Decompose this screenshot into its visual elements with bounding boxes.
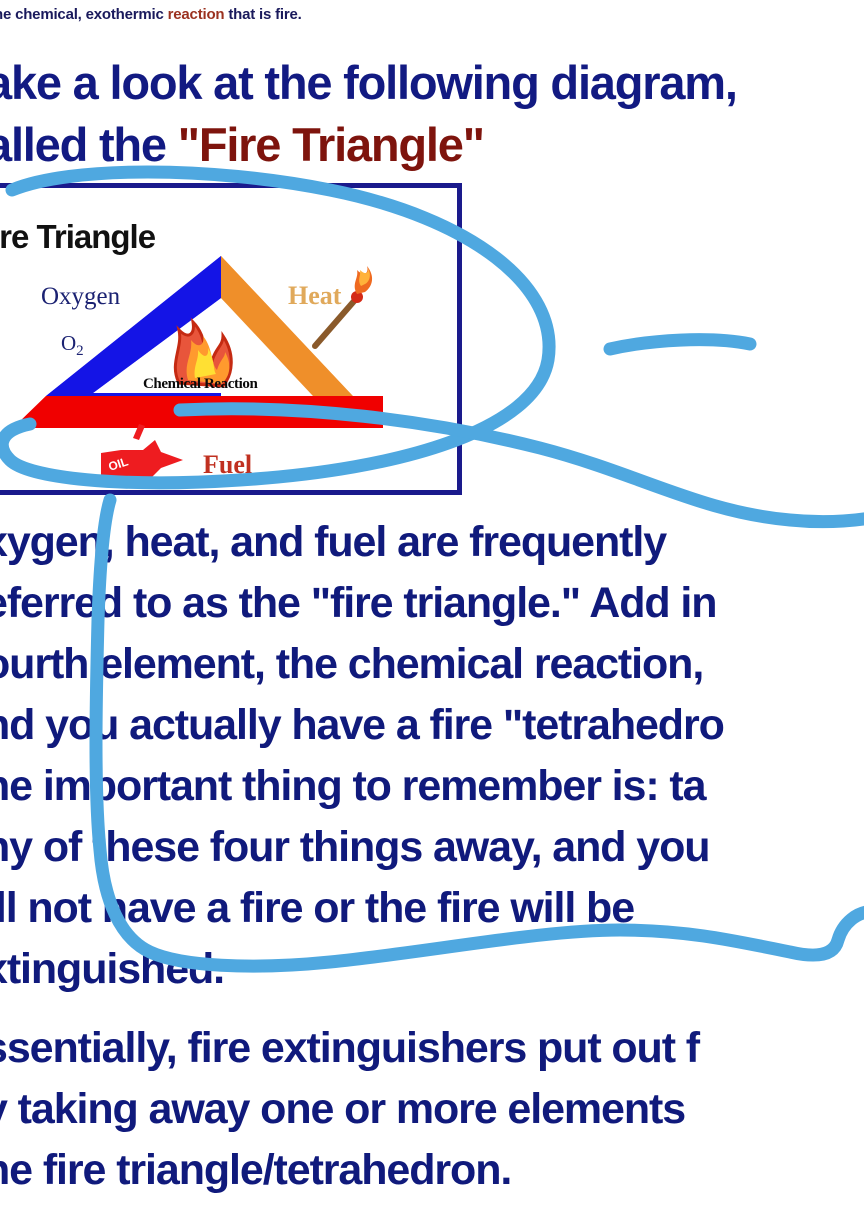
paragraph-one: xygen, heat, and fuel are frequently efe… bbox=[0, 512, 864, 1000]
page-heading: ake a look at the following diagram, all… bbox=[0, 52, 864, 176]
heading-line-1: ake a look at the following diagram, bbox=[0, 56, 737, 109]
label-oxygen-formula: O2 bbox=[61, 331, 84, 360]
o2-subscript: 2 bbox=[76, 343, 84, 359]
heading-line-2: alled the "Fire Triangle" bbox=[0, 114, 864, 176]
p2-line-0: ssentially, fire extinguishers put out f bbox=[0, 1018, 864, 1079]
top-text-after: that is fire. bbox=[224, 6, 301, 23]
p1-line-6: ill not have a fire or the fire will be bbox=[0, 878, 864, 939]
p1-line-2: ourth element, the chemical reaction, bbox=[0, 634, 864, 695]
p1-line-5: ny of these four things away, and you bbox=[0, 817, 864, 878]
p1-line-7: xtinguished. bbox=[0, 939, 864, 1000]
p2-line-1: y taking away one or more elements bbox=[0, 1079, 864, 1140]
p2-line-2: he fire triangle/tetrahedron. bbox=[0, 1140, 864, 1201]
oil-can-icon: OIL bbox=[101, 424, 183, 478]
p1-line-3: nd you actually have a fire "tetrahedro bbox=[0, 695, 864, 756]
diagram-title: ire Triangle bbox=[0, 218, 155, 256]
ink-short-dash bbox=[610, 340, 750, 349]
top-text-highlight: reaction bbox=[168, 6, 225, 23]
label-oxygen: Oxygen bbox=[41, 283, 120, 311]
top-text-before: he chemical, exothermic bbox=[0, 6, 168, 23]
top-partial-sentence: he chemical, exothermic reaction that is… bbox=[0, 6, 694, 23]
label-fuel: Fuel bbox=[203, 450, 252, 480]
paragraph-two: ssentially, fire extinguishers put out f… bbox=[0, 1018, 864, 1201]
p1-line-0: xygen, heat, and fuel are frequently bbox=[0, 512, 864, 573]
page-root: he chemical, exothermic reaction that is… bbox=[0, 0, 864, 1229]
p1-line-4: he important thing to remember is: ta bbox=[0, 756, 864, 817]
fire-triangle-image: OIL ire Triangle Oxygen O2 Heat Fuel Che… bbox=[0, 183, 462, 495]
fuel-band bbox=[13, 396, 383, 428]
heading-fire-triangle-phrase: "Fire Triangle" bbox=[178, 118, 484, 171]
heading-line-2-prefix: alled the bbox=[0, 118, 178, 171]
p1-line-1: eferred to as the "fire triangle." Add i… bbox=[0, 573, 864, 634]
label-chemical-reaction: Chemical Reaction bbox=[143, 376, 257, 393]
o2-symbol: O bbox=[61, 331, 76, 355]
label-heat: Heat bbox=[288, 281, 341, 311]
